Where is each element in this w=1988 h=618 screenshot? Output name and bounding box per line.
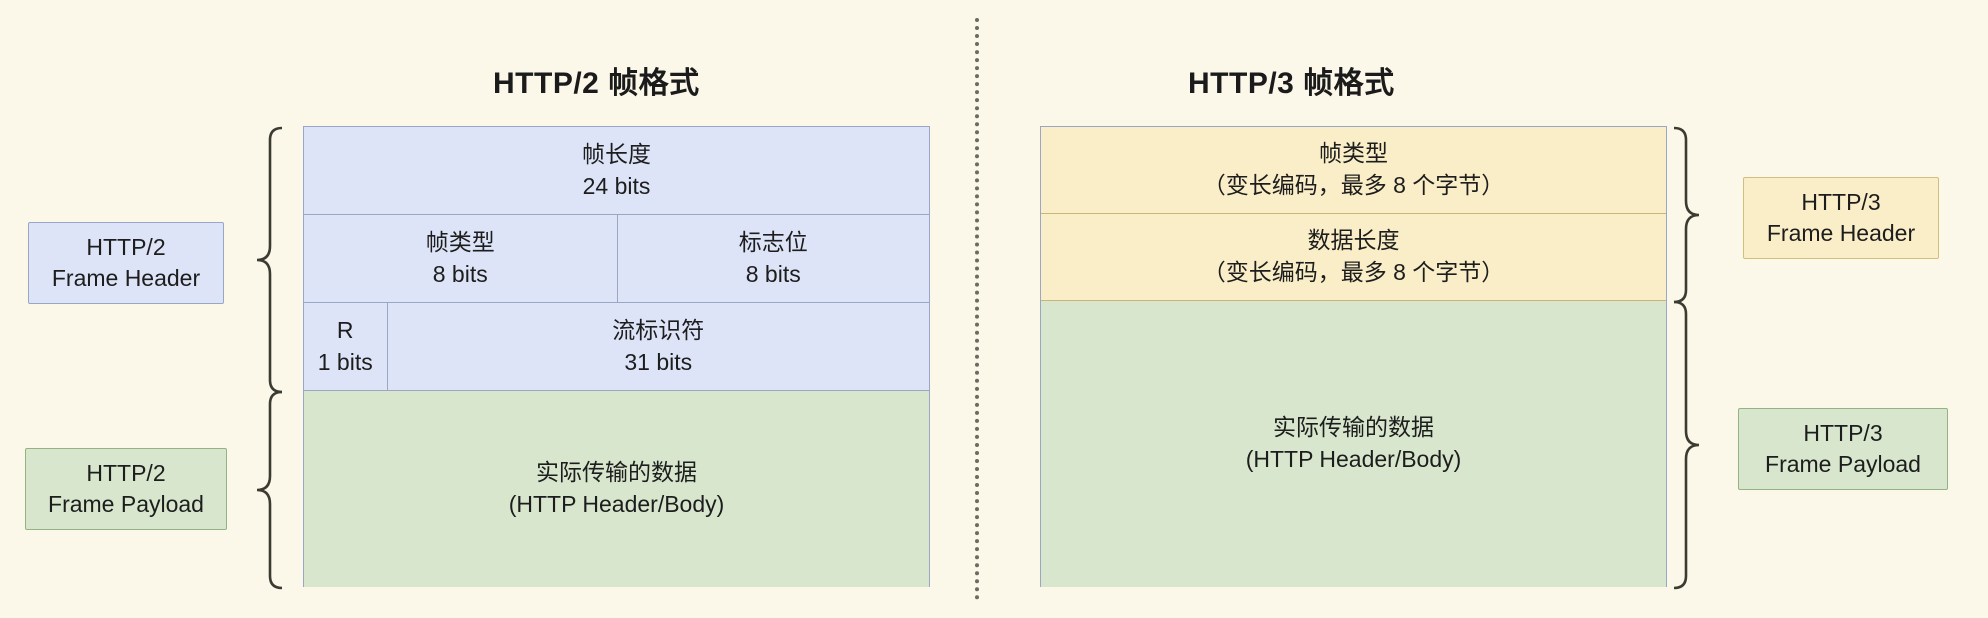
http3-header-brace-icon (1672, 126, 1702, 304)
http2-frame-stack: 帧长度 24 bits 帧类型 8 bits 标志位 8 bits R 1 bi… (303, 126, 930, 587)
diagram-canvas: HTTP/2 帧格式 帧长度 24 bits 帧类型 8 bits 标志位 8 … (0, 0, 1988, 618)
http2-payload-brace-icon (254, 390, 284, 590)
http2-frame-payload-label: HTTP/2 Frame Payload (25, 448, 227, 530)
http2-field-frame-type: 帧类型 8 bits (304, 215, 617, 302)
http3-field-frame-type: 帧类型 （变长编码，最多 8 个字节） (1041, 127, 1666, 214)
http2-field-r: R 1 bits (304, 303, 387, 390)
http2-row-type-flags: 帧类型 8 bits 标志位 8 bits (304, 215, 929, 303)
http3-frame-payload-block: 实际传输的数据 (HTTP Header/Body) (1041, 301, 1666, 587)
http3-field-data-length: 数据长度 （变长编码，最多 8 个字节） (1041, 214, 1666, 301)
http2-frame-payload-block: 实际传输的数据 (HTTP Header/Body) (304, 391, 929, 587)
http2-header-brace-icon (254, 126, 284, 394)
http2-panel-title: HTTP/2 帧格式 (493, 58, 700, 102)
http2-field-flags: 标志位 8 bits (617, 215, 930, 302)
http2-row-r-streamid: R 1 bits 流标识符 31 bits (304, 303, 929, 391)
http2-frame-header-label: HTTP/2 Frame Header (28, 222, 224, 304)
http3-payload-brace-icon (1672, 300, 1702, 590)
http2-field-stream-identifier: 流标识符 31 bits (387, 303, 930, 390)
panel-divider (975, 18, 979, 600)
http3-frame-header-label: HTTP/3 Frame Header (1743, 177, 1939, 259)
http2-field-frame-length: 帧长度 24 bits (304, 127, 929, 215)
http3-frame-stack: 帧类型 （变长编码，最多 8 个字节） 数据长度 （变长编码，最多 8 个字节）… (1040, 126, 1667, 587)
http3-frame-payload-label: HTTP/3 Frame Payload (1738, 408, 1948, 490)
http3-panel-title: HTTP/3 帧格式 (1188, 58, 1395, 102)
